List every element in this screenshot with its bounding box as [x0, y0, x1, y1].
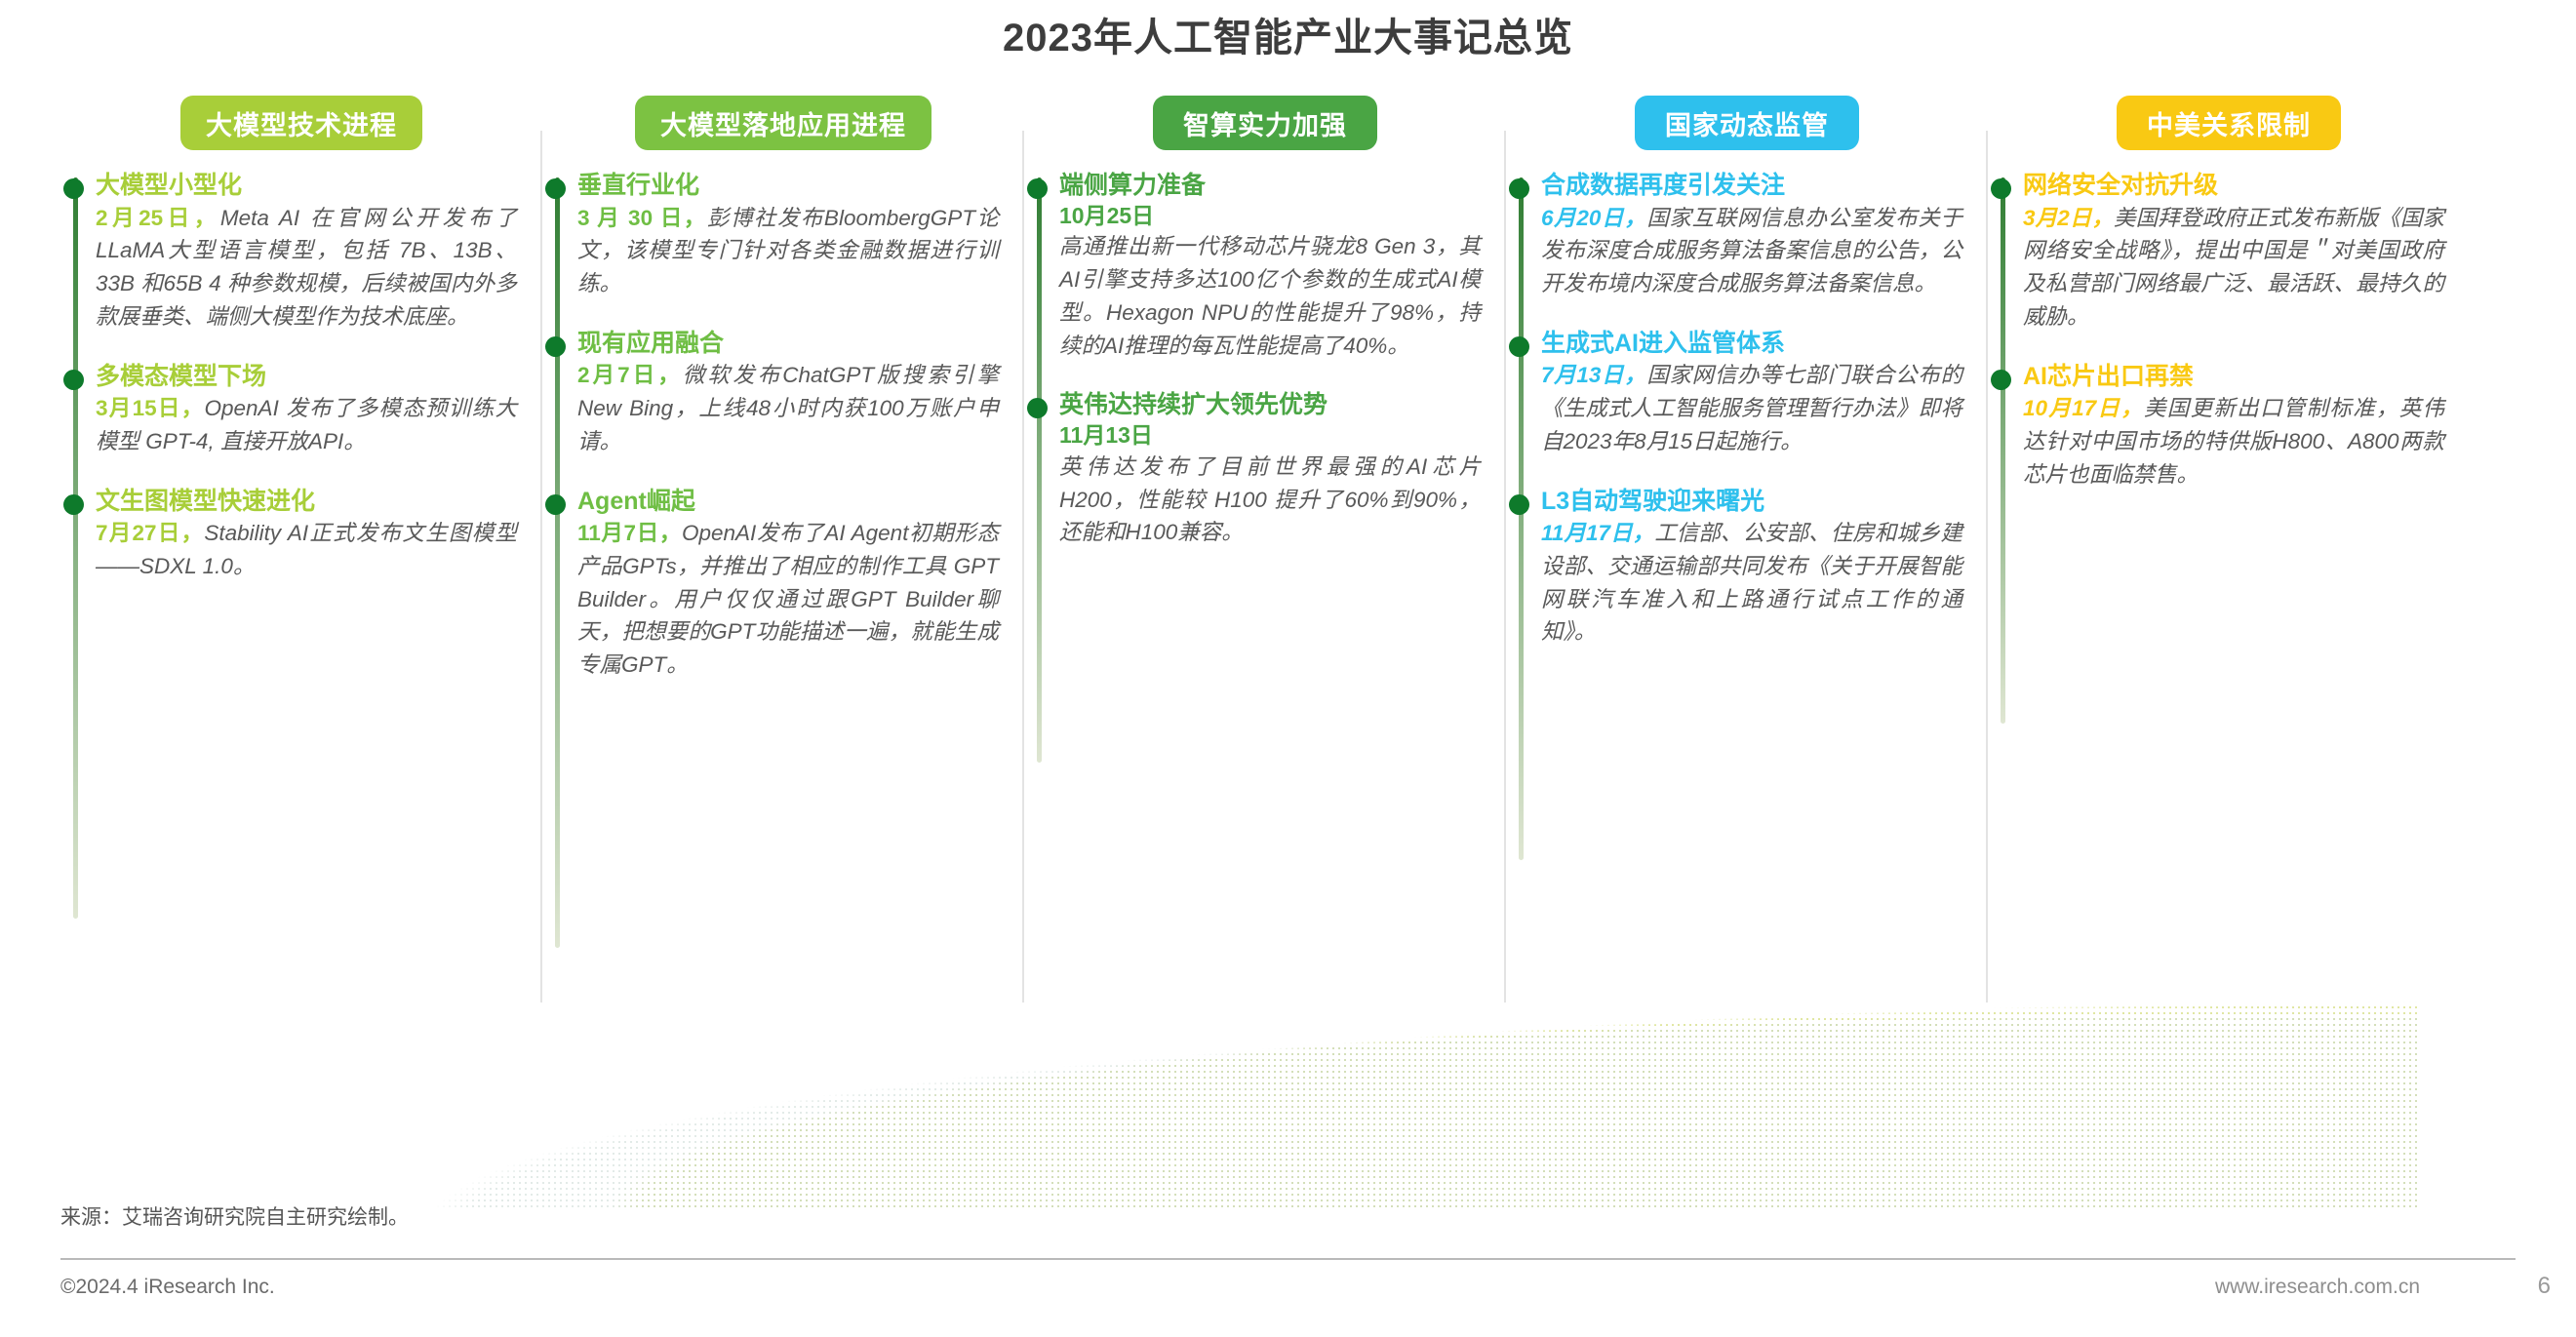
event-description: 2月25日，Meta AI 在官网公开发布了 LLaMA大型语言模型，包括 7B… — [96, 202, 517, 334]
timeline-event[interactable]: 端侧算力准备10月25日高通推出新一代移动芯片骁龙8 Gen 3，其AI引擎支持… — [1059, 172, 1481, 362]
event-date: 2月7日， — [577, 363, 683, 387]
event-title: Agent崛起 — [577, 488, 999, 517]
column-events: 垂直行业化3 月 30 日，彭博社发布BloombergGPT论文，该模型专门针… — [542, 172, 1024, 682]
timeline-event[interactable]: 生成式AI进入监管体系7月13日，国家网信办等七部门联合公布的《生成式人工智能服… — [1541, 330, 1962, 458]
timeline-rail — [555, 177, 560, 948]
event-body-text: 高通推出新一代移动芯片骁龙8 Gen 3，其AI引擎支持多达100亿个参数的生成… — [1059, 234, 1481, 357]
timeline-column-1: 大模型技术进程大模型小型化2月25日，Meta AI 在官网公开发布了 LLaM… — [60, 96, 542, 1129]
event-date: 3月2日， — [2023, 206, 2114, 230]
page-title: 2023年人工智能产业大事记总览 — [0, 6, 2576, 62]
column-header-pill[interactable]: 国家动态监管 — [1635, 96, 1859, 150]
timeline-dot-icon — [63, 494, 84, 515]
timeline-column-5: 中美关系限制网络安全对抗升级3月2日，美国拜登政府正式发布新版《国家网络安全战略… — [1988, 96, 2470, 1129]
column-header-pill[interactable]: 大模型技术进程 — [180, 96, 422, 150]
timeline-dot-icon — [1991, 370, 2011, 390]
event-date: 7月27日， — [96, 521, 204, 545]
event-description: 3月15日，OpenAI 发布了多模态预训练大模型 GPT-4, 直接开放API… — [96, 392, 517, 458]
event-title: 生成式AI进入监管体系 — [1541, 330, 1962, 359]
event-title: 英伟达持续扩大领先优势 — [1059, 391, 1481, 420]
timeline-column-3: 智算实力加强端侧算力准备10月25日高通推出新一代移动芯片骁龙8 Gen 3，其… — [1024, 96, 1506, 1129]
timeline-event[interactable]: 英伟达持续扩大领先优势11月13日英伟达发布了目前世界最强的AI芯片 H200，… — [1059, 391, 1481, 549]
timeline-event[interactable]: 大模型小型化2月25日，Meta AI 在官网公开发布了 LLaMA大型语言模型… — [96, 172, 517, 334]
column-header-pill[interactable]: 中美关系限制 — [2117, 96, 2341, 150]
timeline-event[interactable]: 多模态模型下场3月15日，OpenAI 发布了多模态预训练大模型 GPT-4, … — [96, 363, 517, 458]
event-description: 6月20日，国家互联网信息办公室发布关于发布深度合成服务算法备案信息的公告，公开… — [1541, 202, 1962, 300]
timeline-dot-icon — [1991, 178, 2011, 199]
event-date: 3月15日， — [96, 396, 205, 420]
timeline-rail — [2001, 177, 2005, 724]
event-title: 合成数据再度引发关注 — [1541, 172, 1962, 201]
event-description: 10月17日，美国更新出口管制标准，英伟达针对中国市场的特供版H800、A800… — [2023, 392, 2444, 491]
event-title: 垂直行业化 — [577, 172, 999, 201]
event-description: 11月13日英伟达发布了目前世界最强的AI芯片 H200，性能较 H100 提升… — [1059, 421, 1481, 549]
timeline-column-4: 国家动态监管合成数据再度引发关注6月20日，国家互联网信息办公室发布关于发布深度… — [1506, 96, 1988, 1129]
timeline-event[interactable]: L3自动驾驶迎来曙光11月17日，工信部、公安部、住房和城乡建设部、交通运输部共… — [1541, 488, 1962, 649]
timeline-dot-icon — [63, 370, 84, 390]
column-events: 端侧算力准备10月25日高通推出新一代移动芯片骁龙8 Gen 3，其AI引擎支持… — [1024, 172, 1506, 549]
event-description: 7月13日，国家网信办等七部门联合公布的《生成式人工智能服务管理暂行办法》即将自… — [1541, 359, 1962, 457]
timeline-columns: 大模型技术进程大模型小型化2月25日，Meta AI 在官网公开发布了 LLaM… — [60, 96, 2470, 1129]
column-events: 网络安全对抗升级3月2日，美国拜登政府正式发布新版《国家网络安全战略》，提出中国… — [1988, 172, 2470, 491]
event-title: 多模态模型下场 — [96, 363, 517, 392]
event-description: 3 月 30 日，彭博社发布BloombergGPT论文，该模型专门针对各类金融… — [577, 202, 999, 300]
event-date: 7月13日， — [1541, 363, 1646, 387]
event-date: 10月17日， — [2023, 396, 2144, 420]
timeline-dot-icon — [63, 178, 84, 199]
timeline-rail — [1037, 177, 1042, 763]
timeline-event[interactable]: 网络安全对抗升级3月2日，美国拜登政府正式发布新版《国家网络安全战略》，提出中国… — [2023, 172, 2444, 334]
timeline-dot-icon — [545, 494, 566, 515]
timeline-event[interactable]: AI芯片出口再禁10月17日，美国更新出口管制标准，英伟达针对中国市场的特供版H… — [2023, 363, 2444, 492]
event-title: 现有应用融合 — [577, 330, 999, 359]
event-title: 文生图模型快速进化 — [96, 488, 517, 517]
event-title: 大模型小型化 — [96, 172, 517, 201]
copyright-text: ©2024.4 iResearch Inc. — [60, 1276, 275, 1299]
event-description: 10月25日高通推出新一代移动芯片骁龙8 Gen 3，其AI引擎支持多达100亿… — [1059, 202, 1481, 363]
event-title: 网络安全对抗升级 — [2023, 172, 2444, 201]
slide-canvas: 2023年人工智能产业大事记总览 大模型技术进程大模型小型化2月25日，Meta… — [0, 0, 2576, 1337]
timeline-event[interactable]: 现有应用融合2月7日，微软发布ChatGPT版搜索引擎New Bing，上线48… — [577, 330, 999, 458]
timeline-dot-icon — [1509, 178, 1529, 199]
timeline-rail — [1519, 177, 1524, 860]
event-description: 11月7日，OpenAI发布了AI Agent初期形态产品GPTs，并推出了相应… — [577, 517, 999, 682]
timeline-dot-icon — [545, 178, 566, 199]
page-number: 6 — [2538, 1273, 2551, 1300]
column-header-pill[interactable]: 大模型落地应用进程 — [635, 96, 931, 150]
event-description: 3月2日，美国拜登政府正式发布新版《国家网络安全战略》，提出中国是＂对美国政府及… — [2023, 202, 2444, 334]
event-date: 6月20日， — [1541, 206, 1646, 230]
timeline-event[interactable]: Agent崛起11月7日，OpenAI发布了AI Agent初期形态产品GPTs… — [577, 488, 999, 682]
timeline-dot-icon — [1509, 494, 1529, 515]
event-title: 端侧算力准备 — [1059, 172, 1481, 201]
column-events: 合成数据再度引发关注6月20日，国家互联网信息办公室发布关于发布深度合成服务算法… — [1506, 172, 1988, 649]
column-events: 大模型小型化2月25日，Meta AI 在官网公开发布了 LLaMA大型语言模型… — [60, 172, 542, 583]
event-description: 7月27日，Stability AI正式发布文生图模型——SDXL 1.0。 — [96, 517, 517, 583]
source-note: 来源：艾瑞咨询研究院自主研究绘制。 — [60, 1201, 409, 1231]
event-date: 11月7日， — [577, 521, 682, 545]
event-body-text: 英伟达发布了目前世界最强的AI芯片 H200，性能较 H100 提升了60%到9… — [1059, 454, 1481, 545]
timeline-column-2: 大模型落地应用进程垂直行业化3 月 30 日，彭博社发布BloombergGPT… — [542, 96, 1024, 1129]
timeline-rail — [73, 177, 78, 919]
event-date: 11月17日， — [1541, 521, 1654, 545]
footer-divider — [60, 1258, 2516, 1260]
timeline-event[interactable]: 合成数据再度引发关注6月20日，国家互联网信息办公室发布关于发布深度合成服务算法… — [1541, 172, 1962, 300]
event-date: 3 月 30 日， — [577, 206, 707, 230]
event-date: 10月25日 — [1059, 202, 1481, 231]
timeline-event[interactable]: 文生图模型快速进化7月27日，Stability AI正式发布文生图模型——SD… — [96, 488, 517, 583]
timeline-dot-icon — [1509, 336, 1529, 357]
event-title: AI芯片出口再禁 — [2023, 363, 2444, 392]
event-date: 11月13日 — [1059, 421, 1481, 451]
timeline-dot-icon — [545, 336, 566, 357]
event-description: 11月17日，工信部、公安部、住房和城乡建设部、交通运输部共同发布《关于开展智能… — [1541, 517, 1962, 649]
timeline-dot-icon — [1027, 398, 1048, 418]
website-url: www.iresearch.com.cn — [2215, 1276, 2420, 1299]
event-description: 2月7日，微软发布ChatGPT版搜索引擎New Bing，上线48小时内获10… — [577, 359, 999, 457]
timeline-event[interactable]: 垂直行业化3 月 30 日，彭博社发布BloombergGPT论文，该模型专门针… — [577, 172, 999, 300]
column-header-pill[interactable]: 智算实力加强 — [1153, 96, 1377, 150]
event-title: L3自动驾驶迎来曙光 — [1541, 488, 1962, 517]
timeline-dot-icon — [1027, 178, 1048, 199]
event-date: 2月25日， — [96, 206, 220, 230]
